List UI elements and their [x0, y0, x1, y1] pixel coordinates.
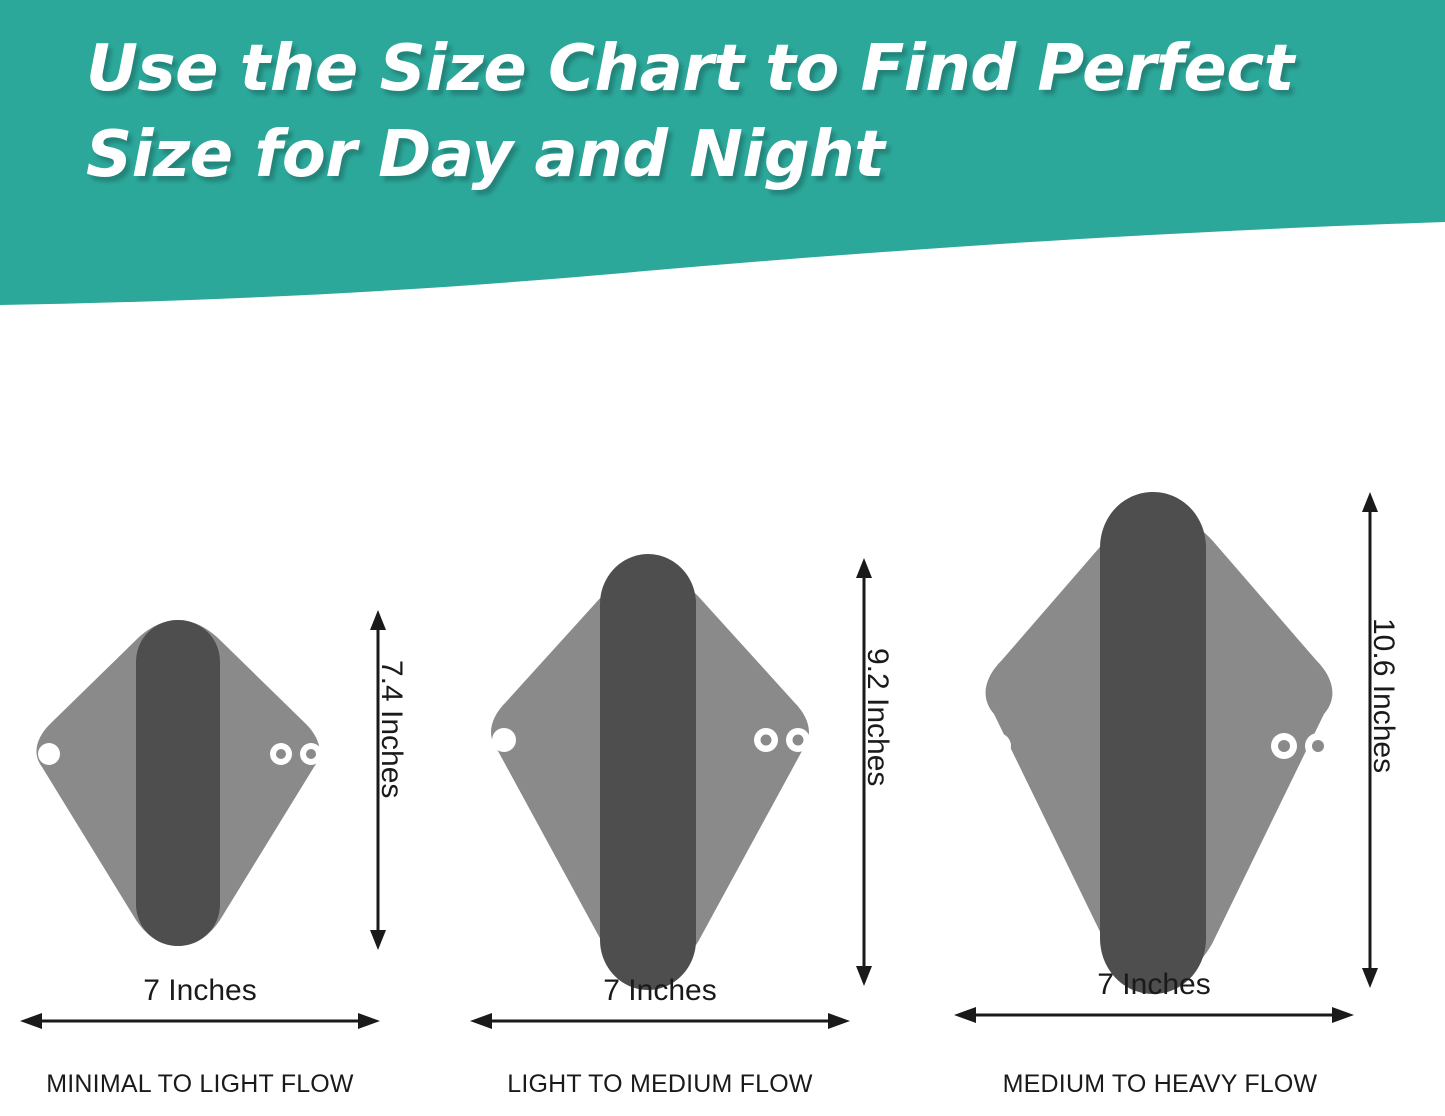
snap-left-icon [38, 743, 60, 765]
pad-caption-medium: LIGHT TO MEDIUM FLOW [460, 1070, 860, 1099]
dimension-label-width-small: 7 Inches [20, 974, 380, 1008]
pads-row: 7.4 Inches 7 Inches MINIMAL TO LIGHT FLO… [0, 470, 1445, 1116]
dimension-arrow-horizontal-medium [470, 1010, 850, 1032]
pad-column-large: 10.6 Inches 7 Inches MEDIUM TO HEAVY FLO… [940, 470, 1445, 1116]
dimension-arrow-horizontal-large [954, 1004, 1354, 1026]
pad-illustration-small [18, 602, 338, 962]
pad-caption-large: MEDIUM TO HEAVY FLOW [950, 1070, 1370, 1099]
dimension-label-height-medium: 9.2 Inches [860, 648, 894, 786]
dimension-label-height-large: 10.6 Inches [1366, 618, 1400, 773]
pad-column-small: 7.4 Inches 7 Inches MINIMAL TO LIGHT FLO… [0, 470, 430, 1116]
snap-left-icon [492, 728, 516, 752]
dimension-arrow-horizontal-small [20, 1010, 380, 1032]
pad-caption-small: MINIMAL TO LIGHT FLOW [0, 1070, 400, 1099]
dimension-label-width-large: 7 Inches [954, 968, 1354, 1002]
snap-left-icon [985, 733, 1011, 759]
header-banner: Use the Size Chart to Find Perfect Size … [0, 0, 1445, 310]
dimension-label-height-small: 7.4 Inches [374, 660, 408, 798]
size-chart-infographic: Use the Size Chart to Find Perfect Size … [0, 0, 1445, 1116]
pad-illustration-large [954, 488, 1354, 1000]
pad-illustration-medium [470, 552, 830, 992]
dimension-label-width-medium: 7 Inches [470, 974, 850, 1008]
pad-column-medium: 9.2 Inches 7 Inches LIGHT TO MEDIUM FLOW [460, 470, 910, 1116]
page-title: Use the Size Chart to Find Perfect Size … [86, 26, 1406, 199]
